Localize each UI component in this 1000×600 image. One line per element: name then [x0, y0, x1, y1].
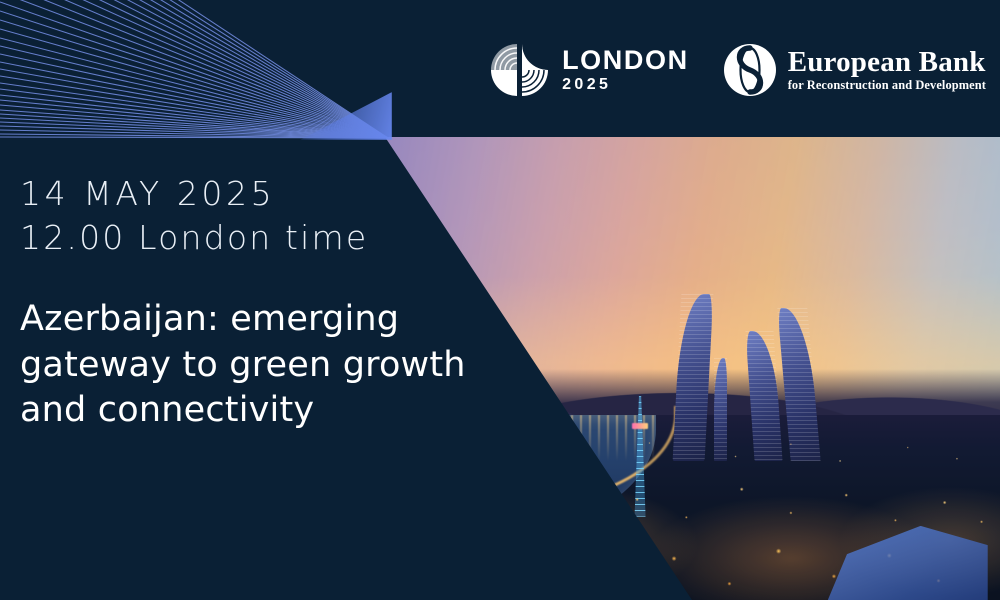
- london-2025-logo: LONDON 2025: [491, 44, 689, 96]
- logo-bar: LONDON 2025 European Bank for: [491, 34, 986, 106]
- event-banner: LONDON 2025 European Bank for: [0, 0, 1000, 600]
- ebrd-wordmark: European Bank for Reconstruction and Dev…: [788, 48, 986, 91]
- headline-line-1: Azerbaijan: emerging: [20, 297, 540, 343]
- event-date: 14 MAY 2025: [20, 172, 368, 216]
- ebrd-logo: European Bank for Reconstruction and Dev…: [723, 43, 986, 97]
- ebrd-circle-mark-icon: [723, 43, 777, 97]
- london-year-label: 2025: [562, 77, 689, 93]
- headline-line-3: and connectivity: [20, 388, 540, 434]
- ebrd-name-line2: for Reconstruction and Development: [788, 79, 986, 91]
- headline-line-2: gateway to green growth: [20, 343, 540, 389]
- london-2025-mark-icon: [491, 44, 549, 96]
- ebrd-name-line1: European Bank: [788, 48, 986, 77]
- event-datetime: 14 MAY 2025 12.00 London time: [20, 172, 368, 259]
- london-wordmark: LONDON 2025: [562, 47, 689, 93]
- event-time: 12.00 London time: [20, 216, 368, 260]
- event-headline: Azerbaijan: emerging gateway to green gr…: [20, 297, 540, 434]
- london-label: LONDON: [562, 47, 689, 74]
